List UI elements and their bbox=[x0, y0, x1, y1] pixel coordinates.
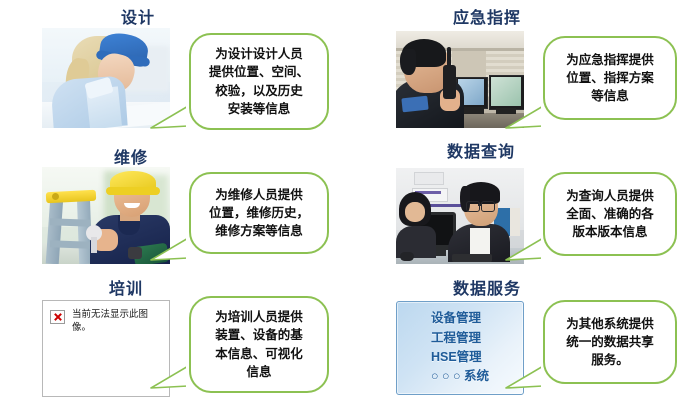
bubble-data-query-text: 为查询人员提供 全面、准确的各 版本版本信息 bbox=[560, 187, 660, 241]
heading-training: 培训 bbox=[109, 275, 143, 299]
bubble-emergency-text: 为应急指挥提供 位置、指挥方案 等信息 bbox=[560, 51, 660, 105]
bubble-maintenance: 为维修人员提供 位置，维修历史， 维修方案等信息 bbox=[189, 172, 329, 254]
heading-data-query: 数据查询 bbox=[447, 138, 515, 162]
broken-image-icon bbox=[50, 310, 65, 324]
bubble-design-text: 为设计设计人员 提供位置、空间、 校验，以及历史 安装等信息 bbox=[203, 45, 315, 118]
bubble-training: 为培训人员提供 装置、设备的基 本信息、可视化 信息 bbox=[189, 296, 329, 393]
bubble-maintenance-text: 为维修人员提供 位置，维修历史， 维修方案等信息 bbox=[203, 186, 315, 240]
bubble-design: 为设计设计人员 提供位置、空间、 校验，以及历史 安装等信息 bbox=[189, 33, 329, 130]
bubble-data-service-text: 为其他系统提供 统一的数据共享 服务。 bbox=[560, 315, 660, 369]
heading-maintenance: 维修 bbox=[114, 144, 148, 168]
bubble-data-query: 为查询人员提供 全面、准确的各 版本版本信息 bbox=[543, 172, 677, 256]
diagram-canvas: 设计 为设计设计人员 bbox=[0, 0, 681, 400]
bubble-training-text: 为培训人员提供 装置、设备的基 本信息、可视化 信息 bbox=[209, 308, 309, 381]
bubble-data-service: 为其他系统提供 统一的数据共享 服务。 bbox=[543, 300, 677, 384]
heading-emergency: 应急指挥 bbox=[453, 4, 521, 28]
broken-image-message: 当前无法显示此图像。 bbox=[72, 309, 162, 335]
heading-design: 设计 bbox=[121, 4, 155, 28]
system-box-items: 设备管理 工程管理 HSE管理 ○ ○ ○ 系统 bbox=[431, 309, 489, 387]
bubble-emergency: 为应急指挥提供 位置、指挥方案 等信息 bbox=[543, 36, 677, 120]
heading-data-service: 数据服务 bbox=[453, 275, 521, 299]
